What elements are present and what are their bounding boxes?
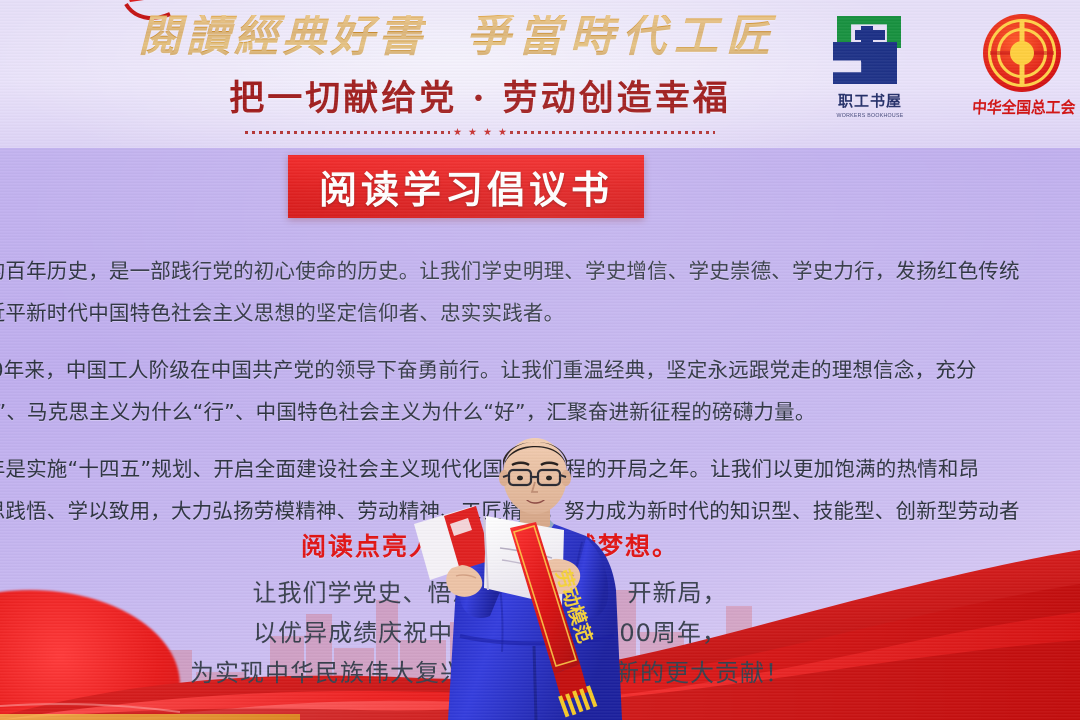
divider-dots-right (510, 131, 715, 134)
star-icon (469, 128, 477, 136)
document-title-text: 阅读学习倡议书 (319, 159, 613, 214)
star-icon (499, 128, 507, 136)
stage-screenshot: 閱讀經典好書 爭當時代工匠 把一切献给党 · 劳动创造幸福 (0, 0, 1080, 720)
logo-staff-bookhouse: 职工书屋 WORKERS BOOKHOUSE (816, 14, 924, 119)
logo-staff-bookhouse-en: WORKERS BOOKHOUSE (819, 113, 922, 119)
headline-segment-2: 爭當時代工匠 (466, 15, 778, 59)
paragraph-1: 党的百年历史，是一部践行党的初心使命的历史。让我们学史明理、学史增信、学史崇德、… (0, 250, 1080, 334)
logo-staff-bookhouse-cn: 职工书屋 (816, 90, 924, 111)
logo-acftu-cn: 中华全国总工会 (972, 94, 1073, 118)
divider-stars (454, 128, 507, 136)
headline-segment-1: 閱讀經典好書 (138, 15, 426, 59)
star-icon (484, 128, 492, 136)
header-banner: 閱讀經典好書 爭當時代工匠 把一切献给党 · 劳动创造幸福 (0, 0, 1080, 148)
star-divider (245, 128, 715, 137)
logo-acftu: 中华全国总工会 (968, 14, 1076, 118)
paragraph-2-line-1: 100年来，中国工人阶级在中国共产党的领导下奋勇前行。让我们重温经典，坚定永远跟… (0, 349, 1080, 391)
document-title-plate: 阅读学习倡议书 (288, 155, 644, 218)
divider-dots-left (245, 131, 450, 134)
headline: 閱讀經典好書 爭當時代工匠 (138, 6, 778, 68)
logo-group: 职工书屋 WORKERS BOOKHOUSE 中华全国总工会 (816, 14, 1076, 119)
star-icon (454, 128, 462, 136)
speaker-figure: 劳动模范 (404, 420, 666, 720)
paragraph-1-line-1: 党的百年历史，是一部践行党的初心使命的历史。让我们学史明理、学史增信、学史崇德、… (0, 250, 1080, 292)
bookhouse-mark-icon (831, 14, 909, 86)
paragraph-1-line-2: 习近平新时代中国特色社会主义思想的坚定信仰者、忠实实践者。 (0, 292, 1080, 334)
acftu-emblem-icon (982, 14, 1062, 92)
